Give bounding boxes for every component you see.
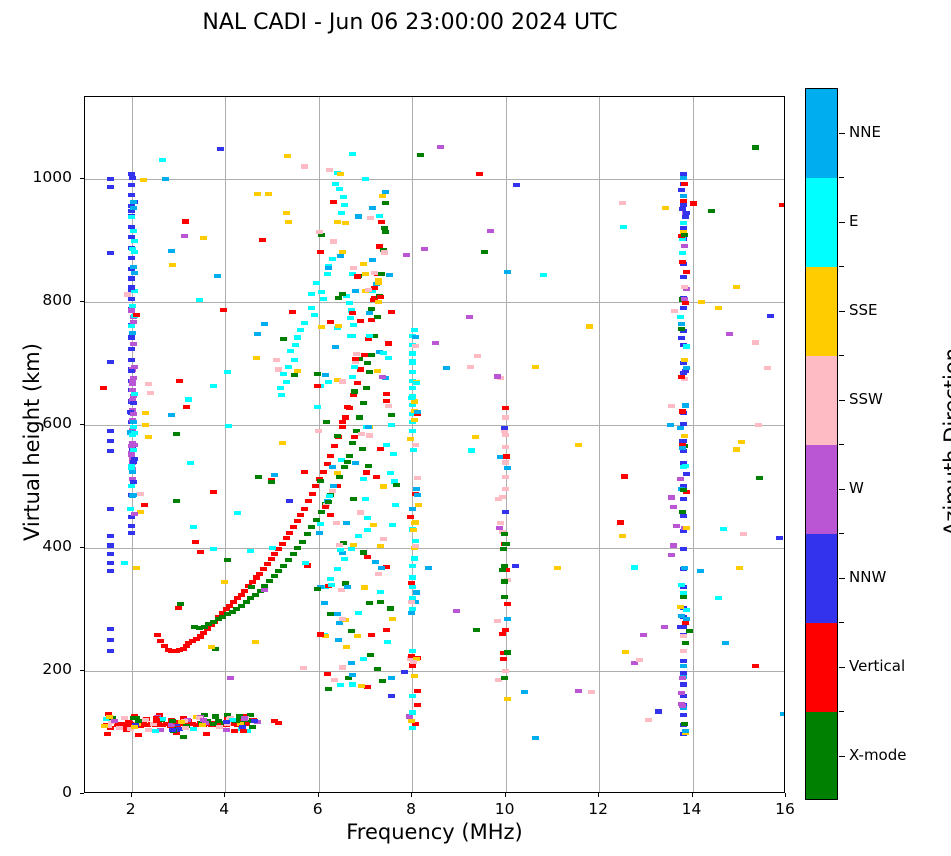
scatter-point	[502, 415, 509, 419]
scatter-point	[107, 185, 114, 189]
scatter-point	[230, 600, 237, 604]
scatter-point	[414, 493, 421, 497]
scatter-point	[683, 526, 690, 530]
scatter-point	[337, 548, 344, 552]
scatter-point	[347, 316, 354, 320]
colorbar-tick-mark	[839, 756, 845, 757]
scatter-point	[668, 553, 675, 557]
scatter-point	[655, 709, 662, 713]
colorbar-tick-label: W	[849, 479, 864, 497]
scatter-point	[317, 250, 324, 254]
scatter-point	[453, 609, 460, 613]
scatter-point	[162, 177, 169, 181]
scatter-point	[351, 365, 358, 369]
scatter-point	[412, 443, 419, 447]
scatter-point	[380, 484, 387, 488]
scatter-point	[350, 543, 357, 547]
scatter-point	[409, 694, 416, 698]
scatter-point	[313, 281, 320, 285]
scatter-point	[127, 507, 134, 511]
scatter-point	[271, 473, 278, 477]
scatter-point	[767, 314, 774, 318]
scatter-point	[407, 437, 414, 441]
scatter-point	[130, 401, 137, 405]
scatter-point	[375, 300, 382, 304]
scatter-point	[388, 310, 395, 314]
scatter-point	[443, 366, 450, 370]
x-tick-label: 14	[672, 800, 712, 818]
scatter-point	[473, 628, 480, 632]
scatter-point	[388, 694, 395, 698]
colorbar-segment[interactable]	[806, 623, 837, 713]
scatter-point	[185, 397, 192, 401]
y-tick-mark	[80, 547, 84, 548]
scatter-point	[368, 307, 375, 311]
scatter-point	[681, 233, 688, 237]
scatter-point	[107, 360, 114, 364]
colorbar-segment[interactable]	[806, 445, 837, 535]
scatter-point	[273, 358, 280, 362]
scatter-point	[334, 471, 341, 475]
scatter-point	[501, 595, 508, 599]
scatter-point	[183, 405, 190, 409]
scatter-point	[501, 426, 508, 430]
scatter-point	[410, 448, 417, 452]
scatter-point	[726, 332, 733, 336]
scatter-point	[265, 192, 272, 196]
scatter-point	[364, 361, 371, 365]
scatter-point	[392, 503, 399, 507]
scatter-point	[384, 640, 391, 644]
scatter-point	[221, 580, 228, 584]
scatter-point	[130, 412, 137, 416]
scatter-point	[190, 525, 197, 529]
scatter-point	[344, 405, 351, 409]
scatter-point	[374, 315, 381, 319]
scatter-point	[369, 206, 376, 210]
scatter-point	[181, 234, 188, 238]
x-tick-mark	[131, 793, 132, 797]
scatter-point	[333, 521, 340, 525]
scatter-point	[130, 376, 137, 380]
colorbar-boundary-tick	[839, 355, 844, 356]
scatter-point	[308, 292, 315, 296]
scatter-point	[378, 220, 385, 224]
scatter-point	[367, 216, 374, 220]
scatter-point	[200, 718, 207, 722]
scatter-point	[680, 439, 687, 443]
scatter-point	[300, 666, 307, 670]
scatter-point	[101, 724, 108, 728]
scatter-point	[320, 297, 327, 301]
scatter-point	[414, 703, 421, 707]
scatter-point	[380, 351, 387, 355]
colorbar-tick-mark	[839, 400, 845, 401]
scatter-point	[389, 617, 396, 621]
scatter-point	[667, 423, 674, 427]
colorbar-boundary-tick	[839, 444, 844, 445]
scatter-point	[175, 606, 182, 610]
colorbar-boundary-tick	[839, 711, 844, 712]
scatter-point	[291, 373, 298, 377]
scatter-point	[502, 669, 509, 673]
scatter-point	[224, 558, 231, 562]
scatter-point	[349, 673, 356, 677]
scatter-point	[720, 527, 727, 531]
scatter-point	[277, 386, 284, 390]
scatter-point	[409, 403, 416, 407]
scatter-point	[336, 543, 343, 547]
scatter-point	[679, 510, 686, 514]
scatter-point	[504, 466, 511, 470]
scatter-point	[410, 660, 417, 664]
scatter-point	[107, 429, 114, 433]
scatter-point	[318, 510, 325, 514]
scatter-point	[361, 585, 368, 589]
scatter-point	[301, 470, 308, 474]
scatter-point	[241, 716, 248, 720]
scatter-point	[247, 596, 254, 600]
scatter-point	[385, 341, 392, 345]
scatter-point	[340, 195, 347, 199]
scatter-point	[680, 488, 687, 492]
scatter-point	[679, 251, 686, 255]
scatter-point	[408, 611, 415, 615]
scatter-point	[414, 410, 421, 414]
scatter-point	[501, 676, 508, 680]
scatter-point	[212, 714, 219, 718]
scatter-point	[502, 406, 509, 410]
scatter-point	[389, 523, 396, 527]
scatter-point	[224, 370, 231, 374]
scatter-point	[323, 420, 330, 424]
scatter-point	[294, 519, 301, 523]
scatter-point	[129, 331, 136, 335]
scatter-point	[199, 723, 206, 727]
scatter-point	[677, 426, 684, 430]
scatter-point	[679, 676, 686, 680]
scatter-point	[501, 579, 508, 583]
scatter-point	[197, 634, 204, 638]
scatter-point	[283, 380, 290, 384]
x-tick-label: 4	[204, 800, 244, 818]
scatter-point	[409, 394, 416, 398]
scatter-point	[107, 552, 114, 556]
x-tick-mark	[224, 793, 225, 797]
scatter-point	[393, 483, 400, 487]
scatter-point	[308, 306, 315, 310]
scatter-point	[764, 366, 771, 370]
scatter-point	[708, 209, 715, 213]
scatter-point	[360, 477, 367, 481]
scatter-point	[780, 712, 785, 716]
scatter-point	[339, 665, 346, 669]
scatter-point	[329, 465, 336, 469]
scatter-point	[129, 176, 136, 180]
scatter-point	[366, 370, 373, 374]
scatter-point	[252, 640, 259, 644]
scatter-point	[374, 369, 381, 373]
scatter-point	[715, 596, 722, 600]
scatter-point	[683, 344, 690, 348]
scatter-point	[210, 547, 217, 551]
scatter-point	[182, 726, 189, 730]
scatter-point	[680, 497, 687, 501]
scatter-point	[375, 278, 382, 282]
scatter-point	[106, 715, 113, 719]
scatter-point	[356, 415, 363, 419]
scatter-point	[299, 540, 306, 544]
scatter-point	[173, 432, 180, 436]
scatter-point	[681, 285, 688, 289]
scatter-point	[314, 384, 321, 388]
scatter-point	[678, 375, 685, 379]
scatter-point	[343, 645, 350, 649]
scatter-point	[366, 601, 373, 605]
scatter-point	[249, 725, 256, 729]
scatter-point	[681, 434, 688, 438]
scatter-point	[680, 465, 687, 469]
scatter-point	[677, 605, 684, 609]
scatter-point	[137, 492, 144, 496]
scatter-point	[100, 386, 107, 390]
scatter-point	[502, 542, 509, 546]
scatter-point	[738, 440, 745, 444]
scatter-point	[176, 379, 183, 383]
scatter-point	[351, 389, 358, 393]
scatter-point	[501, 532, 508, 536]
scatter-point	[331, 444, 338, 448]
scatter-point	[339, 425, 346, 429]
colorbar-tick-mark	[839, 578, 845, 579]
scatter-point	[406, 714, 413, 718]
scatter-point	[316, 531, 323, 535]
scatter-point	[372, 560, 379, 564]
scatter-point	[680, 634, 687, 638]
scatter-point	[690, 201, 697, 205]
scatter-point	[409, 710, 416, 714]
scatter-point	[339, 420, 346, 424]
scatter-point	[411, 556, 418, 560]
scatter-point	[168, 249, 175, 253]
colorbar-segment[interactable]	[806, 89, 837, 179]
scatter-point	[327, 320, 334, 324]
scatter-point	[238, 604, 245, 608]
scatter-point	[481, 250, 488, 254]
scatter-point	[227, 676, 234, 680]
scatter-point	[415, 503, 422, 507]
scatter-point	[129, 382, 136, 386]
scatter-point	[622, 650, 629, 654]
scatter-point	[409, 359, 416, 363]
scatter-point	[388, 413, 395, 417]
colorbar-boundary-tick	[839, 533, 844, 534]
scatter-point	[131, 239, 138, 243]
scatter-point	[129, 470, 136, 474]
scatter-point	[354, 634, 361, 638]
scatter-point	[352, 357, 359, 361]
scatter-point	[366, 433, 373, 437]
scatter-point	[349, 152, 356, 156]
scatter-point	[680, 176, 687, 180]
scatter-point	[409, 386, 416, 390]
scatter-point	[322, 505, 329, 509]
scatter-point	[497, 521, 504, 525]
x-axis-label: Frequency (MHz)	[84, 820, 785, 844]
scatter-point	[502, 475, 509, 479]
colorbar-segment[interactable]	[806, 712, 837, 800]
scatter-point	[225, 424, 232, 428]
scatter-point	[631, 661, 638, 665]
scatter-point	[348, 661, 355, 665]
scatter-point	[317, 479, 324, 483]
scatter-point	[248, 585, 255, 589]
scatter-point	[285, 220, 292, 224]
scatter-point	[350, 266, 357, 270]
colorbar[interactable]	[805, 88, 838, 800]
scatter-point	[128, 215, 135, 219]
scatter-point	[681, 244, 688, 248]
scatter-point	[251, 719, 258, 723]
scatter-point	[681, 358, 688, 362]
scatter-point	[275, 721, 282, 725]
scatter-point	[474, 354, 481, 358]
colorbar-tick-mark	[839, 133, 845, 134]
scatter-point	[673, 524, 680, 528]
x-tick-label: 12	[578, 800, 618, 818]
scatter-point	[532, 365, 539, 369]
scatter-point	[264, 562, 271, 566]
plot-area[interactable]	[84, 96, 785, 793]
scatter-point	[588, 690, 595, 694]
scatter-point	[408, 719, 415, 723]
scatter-point	[327, 612, 334, 616]
scatter-point	[327, 513, 334, 517]
scatter-point	[502, 445, 509, 449]
scatter-point	[279, 441, 286, 445]
scatter-point	[208, 645, 215, 649]
scatter-point	[586, 324, 593, 328]
scatter-point	[382, 201, 389, 205]
scatter-point	[321, 601, 328, 605]
scatter-point	[409, 726, 416, 730]
scatter-point	[128, 276, 135, 280]
scatter-point	[339, 292, 346, 296]
colorbar-segment[interactable]	[806, 267, 837, 357]
scatter-point	[487, 229, 494, 233]
scatter-point	[349, 441, 356, 445]
scatter-point	[335, 296, 342, 300]
scatter-point	[381, 250, 388, 254]
scatter-point	[683, 472, 690, 476]
scatter-point	[223, 728, 230, 732]
scatter-point	[308, 525, 315, 529]
scatter-point	[180, 735, 187, 739]
scatter-point	[223, 720, 230, 724]
scatter-point	[238, 593, 245, 597]
colorbar-segment[interactable]	[806, 356, 837, 446]
scatter-point	[387, 606, 394, 610]
scatter-point	[411, 674, 418, 678]
scatter-point	[130, 200, 137, 204]
scatter-point	[130, 425, 137, 429]
scatter-point	[736, 566, 743, 570]
y-tick-mark	[80, 793, 84, 794]
scatter-point	[414, 689, 421, 693]
scatter-point	[513, 183, 520, 187]
scatter-point	[354, 381, 361, 385]
scatter-point	[365, 425, 372, 429]
scatter-point	[432, 341, 439, 345]
scatter-point	[342, 221, 349, 225]
colorbar-tick-label: X-mode	[849, 746, 906, 764]
scatter-point	[353, 352, 360, 356]
scatter-point	[210, 384, 217, 388]
scatter-point	[335, 324, 342, 328]
scatter-point	[196, 298, 203, 302]
scatter-point	[682, 729, 689, 733]
scatter-point	[200, 631, 207, 635]
scatter-point	[320, 470, 327, 474]
scatter-point	[322, 373, 329, 377]
x-tick-mark	[505, 793, 506, 797]
scatter-point	[329, 257, 336, 261]
scatter-point	[740, 532, 747, 536]
colorbar-segment[interactable]	[806, 178, 837, 268]
scatter-point	[357, 510, 364, 514]
scatter-point	[683, 366, 690, 370]
scatter-point	[142, 411, 149, 415]
scatter-point	[678, 614, 685, 618]
colorbar-tick-mark	[839, 667, 845, 668]
scatter-point	[504, 270, 511, 274]
scatter-point	[512, 564, 519, 568]
scatter-point	[349, 311, 356, 315]
scatter-point	[379, 194, 386, 198]
scatter-point	[317, 632, 324, 636]
scatter-point	[752, 664, 759, 668]
colorbar-boundary-tick	[839, 622, 844, 623]
scatter-point	[107, 251, 114, 255]
colorbar-segment[interactable]	[806, 534, 837, 624]
scatter-point	[680, 306, 687, 310]
scatter-point	[521, 690, 528, 694]
scatter-point	[190, 727, 197, 731]
scatter-point	[234, 511, 241, 515]
scatter-point	[752, 340, 759, 344]
scatter-point	[499, 568, 506, 572]
scatter-point	[401, 670, 408, 674]
colorbar-tick-label: Vertical	[849, 657, 905, 675]
scatter-point	[290, 552, 297, 556]
scatter-point	[229, 718, 236, 722]
scatter-point	[128, 335, 135, 339]
scatter-point	[366, 334, 373, 338]
scatter-point	[368, 318, 375, 322]
scatter-point	[336, 187, 343, 191]
scatter-point	[413, 590, 420, 594]
scatter-point	[256, 572, 263, 576]
colorbar-tick-label: SSE	[849, 301, 878, 319]
scatter-point	[234, 596, 241, 600]
colorbar-tick-label: NNE	[849, 123, 881, 141]
x-tick-label: 8	[391, 800, 431, 818]
scatter-point	[417, 153, 424, 157]
scatter-point	[259, 238, 266, 242]
scatter-point	[661, 625, 668, 629]
scatter-point	[496, 526, 503, 530]
scatter-point	[330, 200, 337, 204]
